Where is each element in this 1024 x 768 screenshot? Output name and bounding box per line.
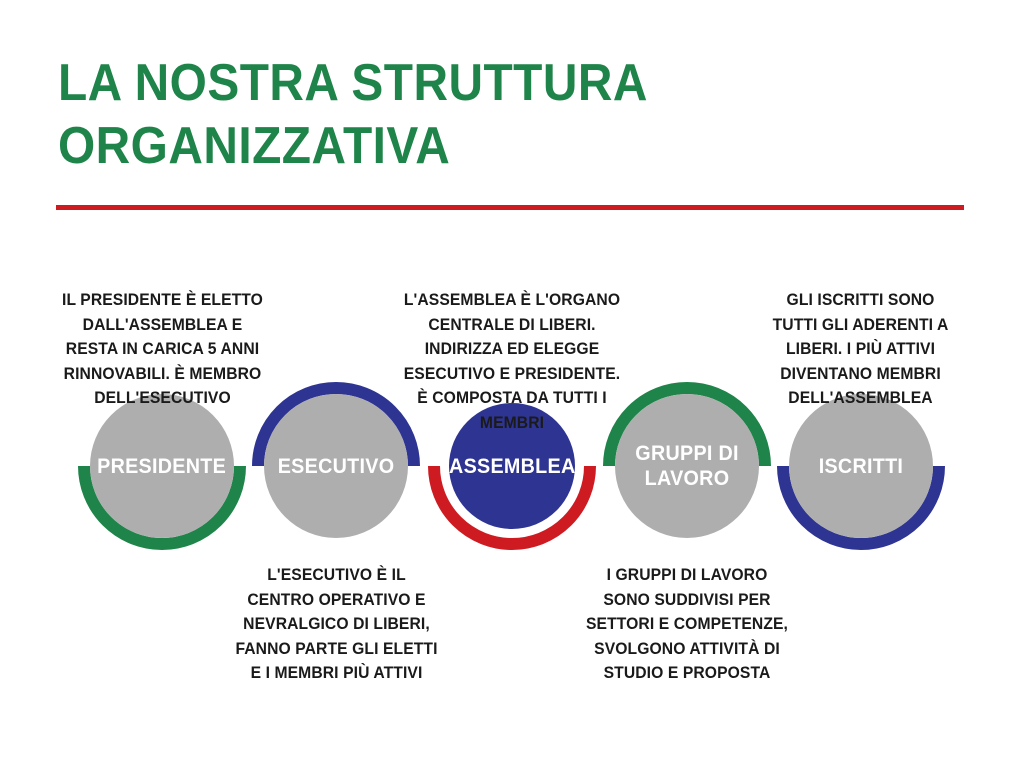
disc-iscritti: ISCRITTI	[789, 394, 933, 538]
disc-esecutivo: ESECUTIVO	[264, 394, 408, 538]
disc-gruppi-di-lavoro: GRUPPI DI LAVORO	[615, 394, 759, 538]
disc-label-presidente: PRESIDENTE	[98, 454, 227, 479]
caption-esecutivo: L'ESECUTIVO È IL CENTRO OPERATIVO E NEVR…	[233, 563, 439, 686]
caption-assemblea: L'ASSEMBLEA È L'ORGANO CENTRALE DI LIBER…	[403, 288, 622, 435]
caption-iscritti: GLI ISCRITTI SONO TUTTI GLI ADERENTI A L…	[763, 288, 958, 411]
disc-label-gruppi-di-lavoro: GRUPPI DI LAVORO	[635, 441, 738, 491]
organizational-structure-diagram: PRESIDENTE IL PRESIDENTE È ELETTO DALL'A…	[0, 0, 1024, 768]
disc-label-assemblea: ASSEMBLEA	[449, 454, 575, 479]
disc-label-iscritti: ISCRITTI	[819, 454, 904, 479]
caption-gruppi-di-lavoro: I GRUPPI DI LAVORO SONO SUDDIVISI PER SE…	[583, 563, 790, 686]
caption-presidente: IL PRESIDENTE È ELETTO DALL'ASSEMBLEA E …	[61, 288, 263, 411]
disc-presidente: PRESIDENTE	[90, 394, 234, 538]
disc-label-esecutivo: ESECUTIVO	[278, 454, 395, 479]
